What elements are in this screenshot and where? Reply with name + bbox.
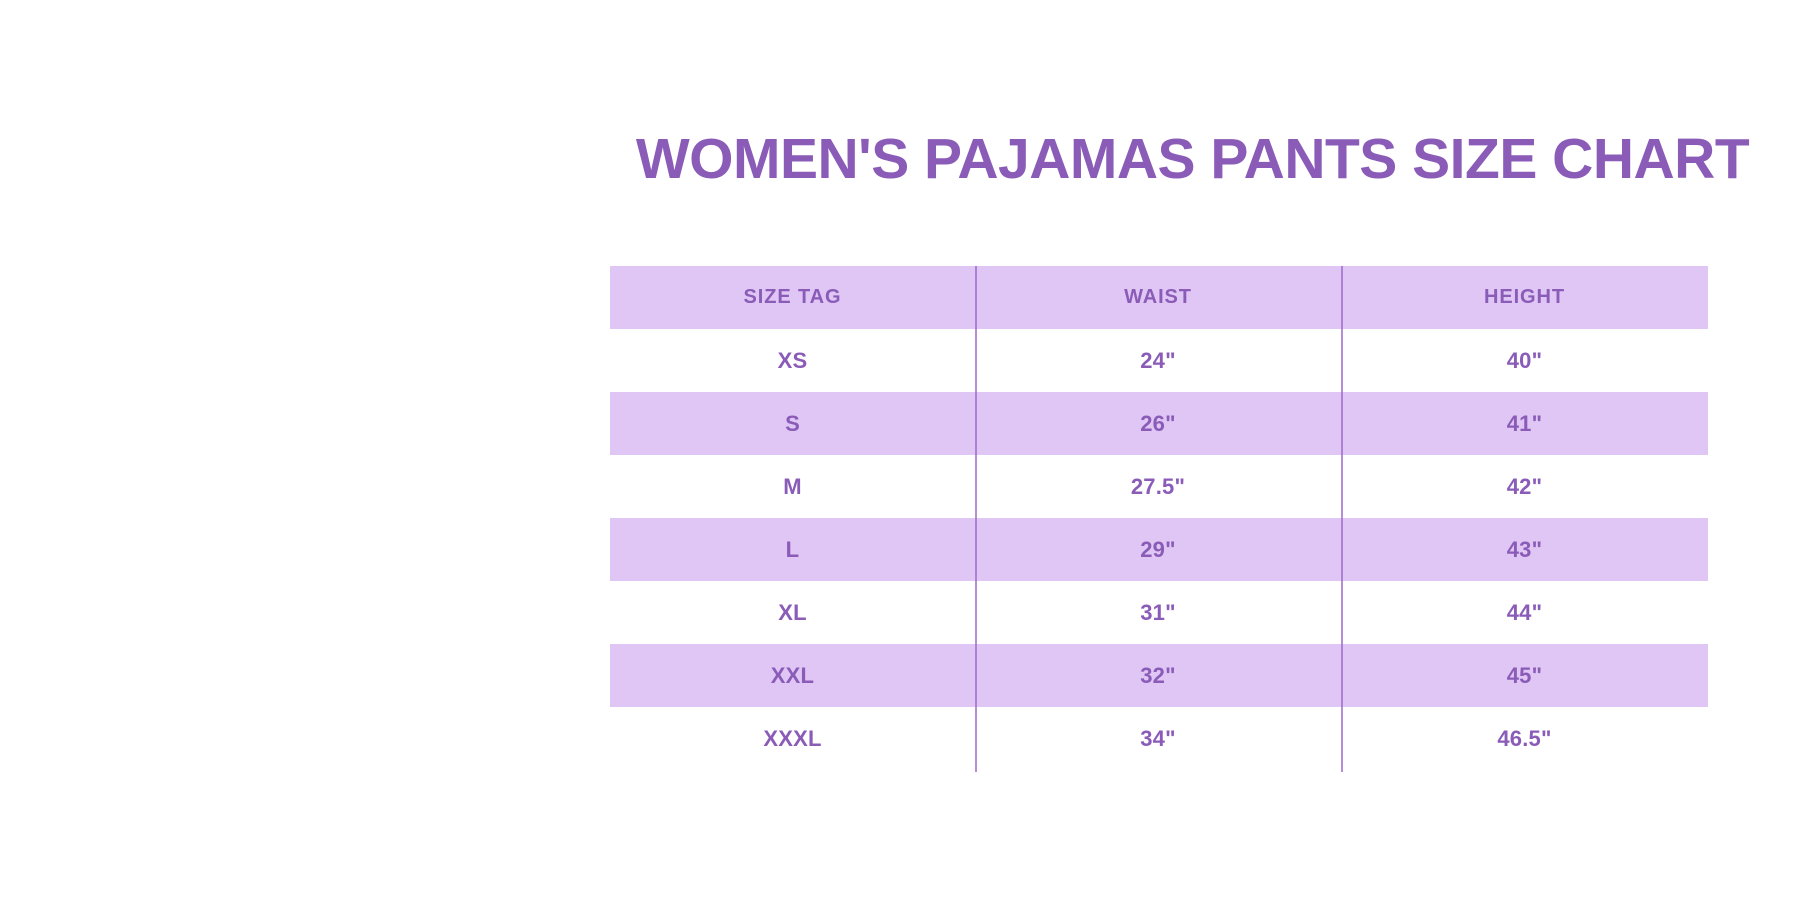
table-row: S 26" 41" [610,392,1708,455]
cell-height: 45" [1341,644,1708,707]
cell-height: 42" [1341,455,1708,518]
cell-height: 44" [1341,581,1708,644]
table-body: XS 24" 40" S 26" 41" M 27.5" 42" L 29" [610,329,1708,770]
table-row: XS 24" 40" [610,329,1708,392]
size-chart-table: SIZE TAG WAIST HEIGHT XS 24" 40" S 26" 4… [610,266,1708,770]
cell-waist: 29" [975,518,1341,581]
cell-size-tag: M [610,455,975,518]
cell-height: 41" [1341,392,1708,455]
table-row: M 27.5" 42" [610,455,1708,518]
cell-waist: 34" [975,707,1341,770]
cell-waist: 32" [975,644,1341,707]
table-header-row: SIZE TAG WAIST HEIGHT [610,266,1708,329]
column-header-height: HEIGHT [1341,266,1708,329]
cell-waist: 24" [975,329,1341,392]
table-row: XXXL 34" 46.5" [610,707,1708,770]
size-chart-page: WOMEN'S PAJAMAS PANTS SIZE CHART SIZE TA… [0,0,1800,900]
table-row: XXL 32" 45" [610,644,1708,707]
table-row: XL 31" 44" [610,581,1708,644]
table-row: L 29" 43" [610,518,1708,581]
cell-size-tag: XS [610,329,975,392]
cell-waist: 26" [975,392,1341,455]
page-title: WOMEN'S PAJAMAS PANTS SIZE CHART [610,130,1775,190]
cell-size-tag: S [610,392,975,455]
cell-size-tag: XXL [610,644,975,707]
cell-height: 43" [1341,518,1708,581]
size-chart-table-container: SIZE TAG WAIST HEIGHT XS 24" 40" S 26" 4… [610,266,1708,770]
column-header-size-tag: SIZE TAG [610,266,975,329]
cell-waist: 31" [975,581,1341,644]
cell-height: 46.5" [1341,707,1708,770]
column-header-waist: WAIST [975,266,1341,329]
cell-size-tag: XL [610,581,975,644]
table-header: SIZE TAG WAIST HEIGHT [610,266,1708,329]
cell-height: 40" [1341,329,1708,392]
cell-size-tag: XXXL [610,707,975,770]
cell-waist: 27.5" [975,455,1341,518]
cell-size-tag: L [610,518,975,581]
